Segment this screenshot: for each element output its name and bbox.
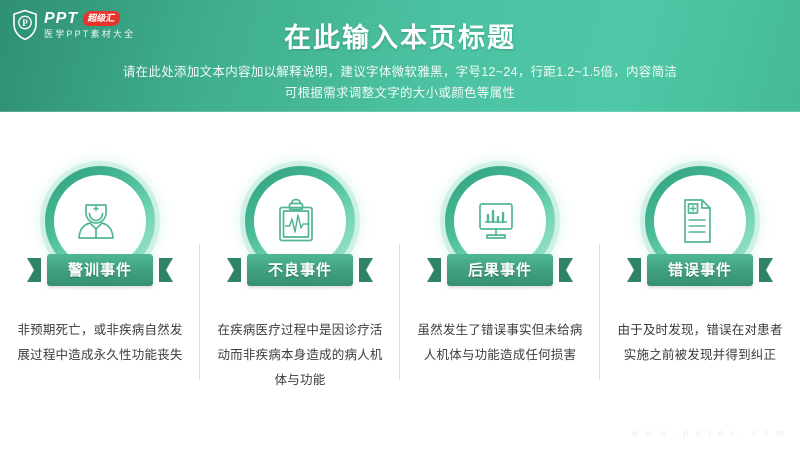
badge-medallion: 不良事件: [241, 166, 359, 284]
header-banner: P PPT 超级汇 医学PPT素材大全 在此输入本页标题 请在此处添加文本内容加…: [0, 0, 800, 112]
ribbon-tail-left: [625, 258, 641, 287]
card-label: 错误事件: [668, 263, 732, 278]
ribbon-body: 错误事件: [647, 254, 753, 286]
card-item[interactable]: 不良事件 在疾病医疗过程中是因诊疗活动而非疾病本身造成的病人机体与功能: [200, 160, 400, 400]
subtitle-line-2: 可根据需求调整文字的大小或颜色等属性: [0, 83, 800, 104]
page-title: 在此输入本页标题: [0, 16, 800, 55]
badge-ribbon: 错误事件: [637, 254, 763, 290]
card-description: 非预期死亡，或非疾病自然发展过程中造成永久性功能丧失: [15, 318, 185, 368]
ribbon-tail-right: [759, 258, 775, 287]
badge-medallion: 警训事件: [41, 166, 159, 284]
card-row: 警训事件 非预期死亡，或非疾病自然发展过程中造成永久性功能丧失: [0, 160, 800, 400]
site-watermark: w w w . p p t e r . c o m: [631, 428, 786, 438]
card-item[interactable]: 错误事件 由于及时发现，错误在对患者实施之前被发现并得到纠正: [600, 160, 800, 400]
ribbon-tail-right: [559, 258, 575, 287]
card-label: 不良事件: [268, 263, 332, 278]
card-label: 警训事件: [68, 263, 132, 278]
badge-medallion: 错误事件: [641, 166, 759, 284]
subtitle-line-1: 请在此处添加文本内容加以解释说明，建议字体微软雅黑，字号12~24，行距1.2~…: [0, 62, 800, 83]
card-description: 由于及时发现，错误在对患者实施之前被发现并得到纠正: [615, 318, 785, 368]
card-item[interactable]: 警训事件 非预期死亡，或非疾病自然发展过程中造成永久性功能丧失: [0, 160, 200, 400]
ribbon-tail-right: [359, 258, 375, 287]
page-subtitle: 请在此处添加文本内容加以解释说明，建议字体微软雅黑，字号12~24，行距1.2~…: [0, 62, 800, 104]
slide: P PPT 超级汇 医学PPT素材大全 在此输入本页标题 请在此处添加文本内容加…: [0, 0, 800, 450]
badge-medallion: 后果事件: [441, 166, 559, 284]
card-label: 后果事件: [468, 263, 532, 278]
card-description: 虽然发生了错误事实但未给病人机体与功能造成任何损害: [415, 318, 585, 368]
ribbon-body: 不良事件: [247, 254, 353, 286]
card-description: 在疾病医疗过程中是因诊疗活动而非疾病本身造成的病人机体与功能: [215, 318, 385, 393]
ribbon-tail-left: [225, 258, 241, 287]
ribbon-tail-right: [159, 258, 175, 287]
ribbon-tail-left: [425, 258, 441, 287]
ribbon-body: 后果事件: [447, 254, 553, 286]
card-item[interactable]: 后果事件 虽然发生了错误事实但未给病人机体与功能造成任何损害: [400, 160, 600, 400]
badge-ribbon: 警训事件: [37, 254, 163, 290]
ribbon-body: 警训事件: [47, 254, 153, 286]
ribbon-tail-left: [25, 258, 41, 287]
badge-ribbon: 后果事件: [437, 254, 563, 290]
badge-ribbon: 不良事件: [237, 254, 363, 290]
